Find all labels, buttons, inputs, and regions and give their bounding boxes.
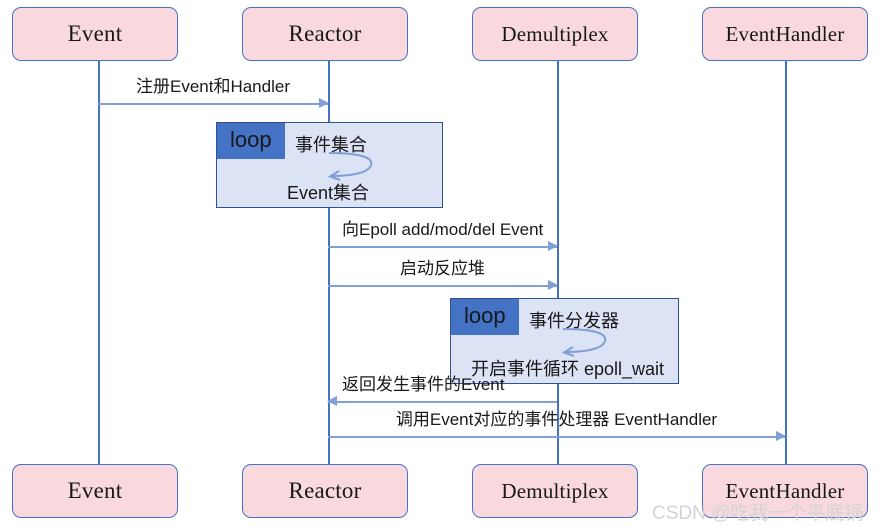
participant-label: Demultiplex [501, 22, 608, 47]
message-label: 启动反应堆 [328, 254, 557, 279]
participant-event-bottom[interactable]: Event [12, 464, 178, 518]
message-label: 返回发生事件的Event [328, 370, 557, 395]
arrowhead-right-icon [319, 98, 329, 108]
participant-demultiplex-bottom[interactable]: Demultiplex [472, 464, 638, 518]
message-label: 向Epoll add/mod/del Event [328, 215, 557, 240]
participant-label: Event [68, 478, 123, 504]
participant-reactor-top[interactable]: Reactor [242, 7, 408, 61]
participant-label: Demultiplex [501, 479, 608, 504]
arrowhead-right-icon [548, 241, 558, 251]
arrowhead-right-icon [776, 431, 786, 441]
csdn-watermark: CSDN @吃我一个平底锅 [652, 498, 863, 525]
fragment-operator-label: loop [217, 123, 285, 159]
message-label: 调用Event对应的事件处理器 EventHandler [328, 405, 785, 430]
participant-eventhandler-top[interactable]: EventHandler [702, 7, 868, 61]
participant-label: EventHandler [725, 22, 844, 47]
participant-label: Reactor [289, 478, 362, 504]
sequence-diagram-canvas: Event Reactor Demultiplex EventHandler 注… [0, 0, 879, 527]
participant-label: Reactor [289, 21, 362, 47]
message-line [328, 401, 557, 403]
fragment-loop-event-collection[interactable]: loop 事件集合 Event集合 [216, 122, 443, 208]
fragment-self-message-label: Event集合 [287, 179, 369, 205]
fragment-title-label: 事件集合 [295, 131, 367, 157]
participant-label: Event [68, 21, 123, 47]
message-line [328, 436, 785, 438]
participant-event-top[interactable]: Event [12, 7, 178, 61]
message-line [328, 246, 557, 248]
fragment-operator-label: loop [451, 299, 519, 335]
lifeline-eventhandler [785, 60, 787, 465]
message-line [328, 285, 557, 287]
message-line [98, 103, 328, 105]
participant-reactor-bottom[interactable]: Reactor [242, 464, 408, 518]
fragment-title-label: 事件分发器 [529, 307, 619, 333]
lifeline-event [98, 60, 100, 465]
participant-demultiplex-top[interactable]: Demultiplex [472, 7, 638, 61]
message-label: 注册Event和Handler [98, 72, 328, 97]
arrowhead-right-icon [548, 280, 558, 290]
